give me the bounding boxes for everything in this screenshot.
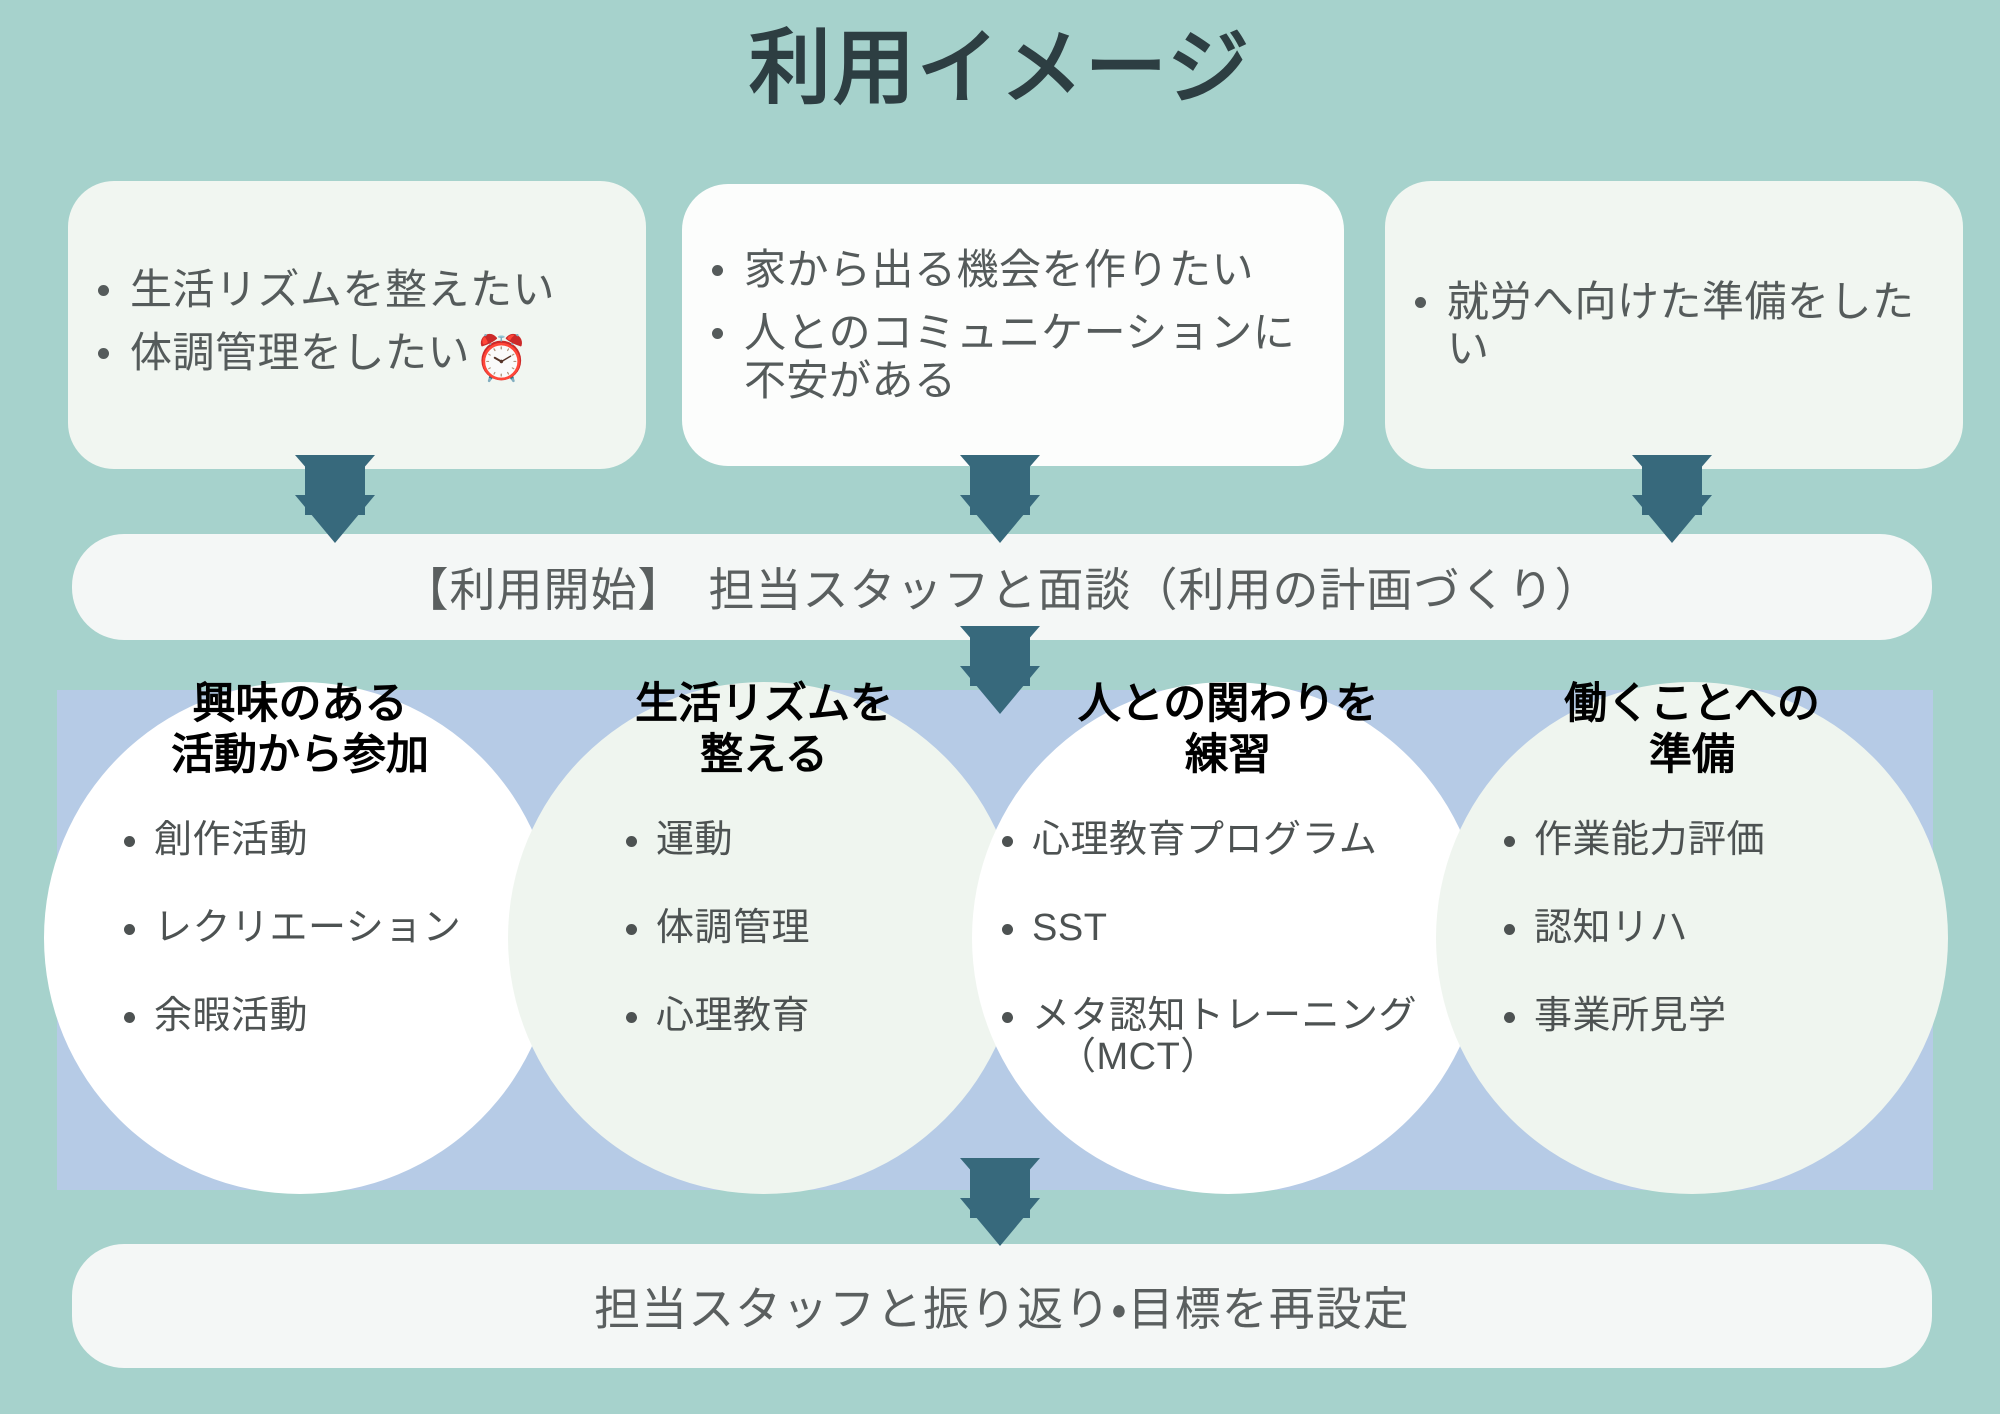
program-item: SST (1032, 908, 1484, 950)
program-item: 運動 (656, 820, 1020, 862)
needs-card-3: 就労へ向けた準備をしたい (1385, 181, 1963, 469)
program-circle-3: 人との関わりを 練習 心理教育プログラム SST メタ認知トレーニング（MCT） (972, 682, 1484, 1194)
needs-list-2: 家から出る機会を作りたい 人とのコミュニケーションに不安がある (682, 230, 1344, 419)
needs-item: 人とのコミュニケーションに不安がある (744, 309, 1318, 403)
needs-item: 生活リズムを整えたい (130, 266, 620, 313)
review-banner-label: 担当スタッフと振り返り・目標を再設定 (594, 1273, 1410, 1339)
review-banner: 担当スタッフと振り返り・目標を再設定 (72, 1244, 1932, 1368)
program-item: 心理教育プログラム (1032, 820, 1484, 862)
diagram-canvas: 利用イメージ 生活リズムを整えたい 体調管理をしたい⏰ 家から出る機会を作りたい… (0, 0, 2000, 1414)
needs-list-1: 生活リズムを整えたい 体調管理をしたい⏰ (68, 250, 646, 399)
program-circle-2-title: 生活リズムを 整える (508, 679, 1020, 780)
program-item: 認知リハ (1534, 908, 1948, 950)
program-item: 作業能力評価 (1534, 820, 1948, 862)
program-circle-1-title: 興味のある 活動から参加 (44, 679, 556, 780)
needs-item: 体調管理をしたい⏰ (130, 329, 620, 383)
arrow-down-4 (950, 626, 1050, 718)
needs-item-label: 体調管理をしたい (130, 329, 470, 376)
program-circle-2-list: 運動 体調管理 心理教育 (508, 820, 1020, 1083)
arrow-down-2 (950, 455, 1050, 547)
arrow-down-3 (1622, 455, 1722, 547)
needs-item-label: 人とのコミュニケーションに不安がある (744, 309, 1295, 403)
program-circle-4: 働くことへの 準備 作業能力評価 認知リハ 事業所見学 (1436, 682, 1948, 1194)
needs-item: 就労へ向けた準備をしたい (1447, 278, 1937, 372)
program-item: メタ認知トレーニング（MCT） (1032, 996, 1484, 1080)
program-item: 創作活動 (154, 820, 556, 862)
needs-item-label: 生活リズムを整えたい (130, 266, 555, 313)
program-item: 事業所見学 (1534, 996, 1948, 1038)
program-circle-3-list: 心理教育プログラム SST メタ認知トレーニング（MCT） (972, 820, 1484, 1079)
program-circle-1-list: 創作活動 レクリエーション 余暇活動 (44, 820, 556, 1083)
program-circle-2: 生活リズムを 整える 運動 体調管理 心理教育 (508, 682, 1020, 1194)
program-item: レクリエーション (154, 908, 556, 950)
program-item: 余暇活動 (154, 996, 556, 1038)
program-item-sub: （MCT） (1058, 1037, 1484, 1079)
start-banner: 【利用開始】 担当スタッフと面談（利用の計画づくり） (72, 534, 1932, 640)
needs-card-1: 生活リズムを整えたい 体調管理をしたい⏰ (68, 181, 646, 469)
needs-item: 家から出る機会を作りたい (744, 246, 1318, 293)
needs-item-label: 就労へ向けた準備をしたい (1447, 278, 1915, 372)
page-title: 利用イメージ (0, 28, 2000, 110)
needs-card-2: 家から出る機会を作りたい 人とのコミュニケーションに不安がある (682, 184, 1344, 466)
program-item: 体調管理 (656, 908, 1020, 950)
program-circle-1: 興味のある 活動から参加 創作活動 レクリエーション 余暇活動 (44, 682, 556, 1194)
needs-item-label: 家から出る機会を作りたい (744, 246, 1254, 293)
program-circle-4-list: 作業能力評価 認知リハ 事業所見学 (1436, 820, 1948, 1083)
alarm-clock-icon: ⏰ (474, 334, 529, 383)
needs-list-3: 就労へ向けた準備をしたい (1385, 262, 1963, 388)
arrow-down-1 (285, 455, 385, 547)
program-item: 心理教育 (656, 996, 1020, 1038)
program-circle-4-title: 働くことへの 準備 (1436, 679, 1948, 780)
arrow-down-5 (950, 1158, 1050, 1250)
start-banner-label: 【利用開始】 担当スタッフと面談（利用の計画づくり） (403, 554, 1602, 620)
